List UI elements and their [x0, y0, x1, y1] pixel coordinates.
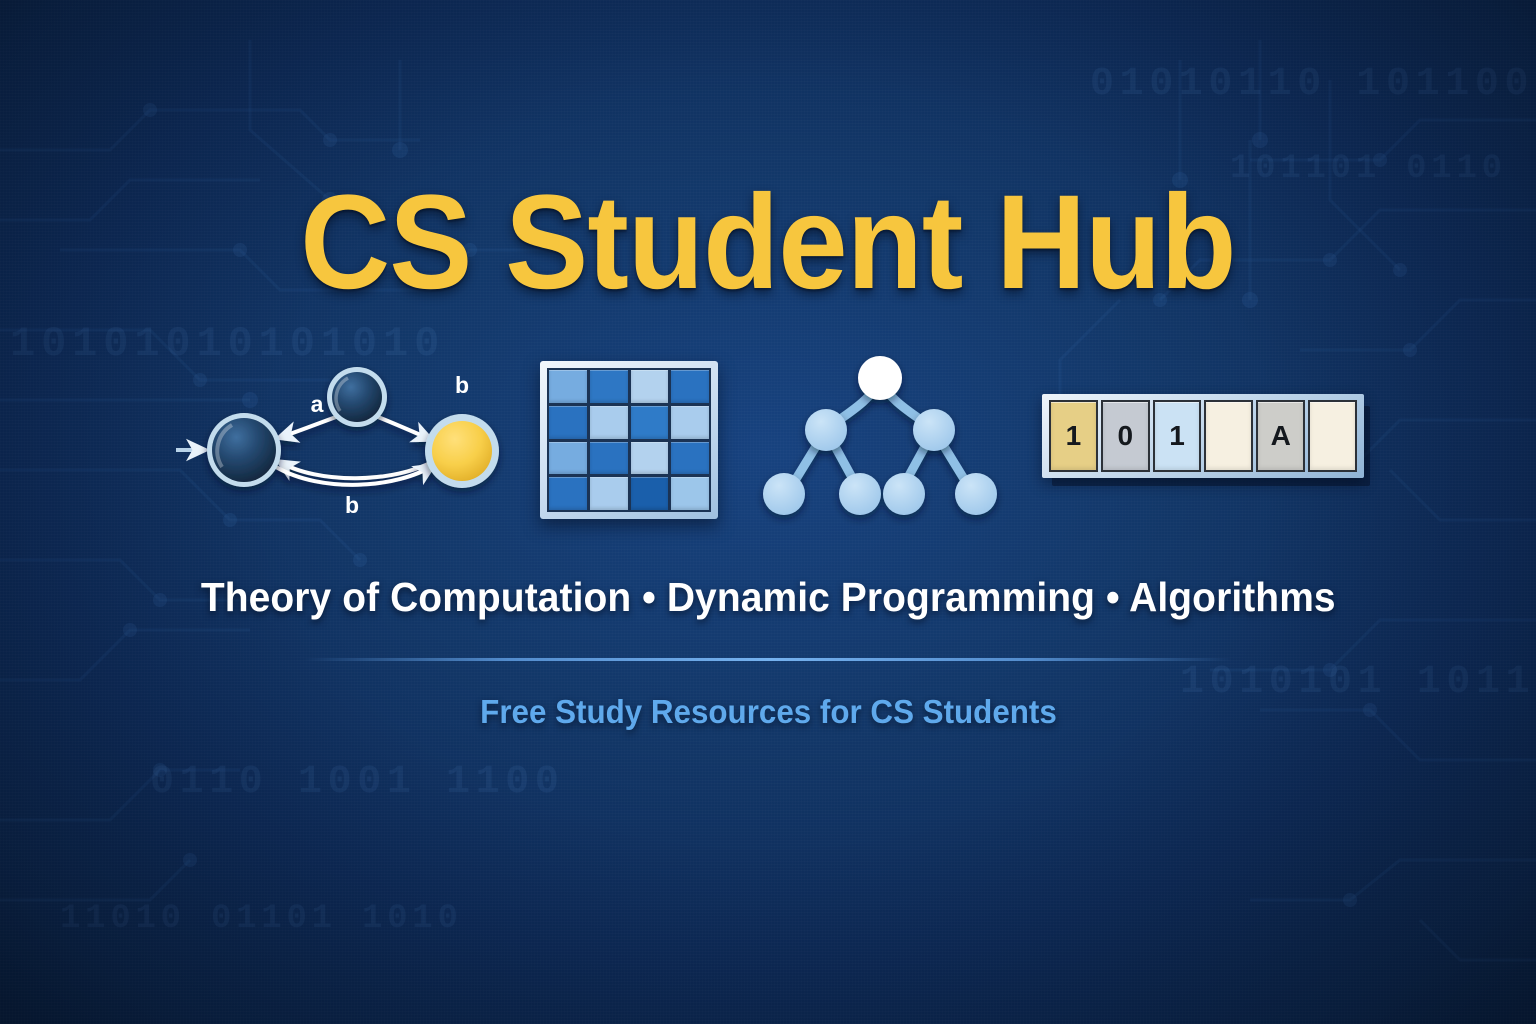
icon-row: a b b [148, 350, 1388, 530]
turing-machine-tape-icon: 101A [1042, 394, 1370, 486]
divider [304, 658, 1232, 661]
transition-b-forward [276, 465, 434, 485]
tree-node [955, 473, 997, 515]
transition-label-b: b [345, 492, 359, 518]
state-q1 [327, 367, 387, 427]
tape-cell-2: 1 [1153, 400, 1202, 472]
transition-label-a: a [311, 391, 324, 417]
transition-label-b2: b [455, 372, 469, 398]
tape-cell-0: 1 [1049, 400, 1098, 472]
matrix-cell-r1-c1 [590, 406, 628, 439]
matrix-cell-r2-c0 [549, 442, 587, 475]
tree-node [839, 473, 881, 515]
matrix-cell-r3-c2 [631, 477, 669, 510]
transition-edge [378, 417, 432, 440]
matrix-cell-r2-c3 [671, 442, 709, 475]
matrix-cell-r0-c1 [590, 370, 628, 403]
finite-state-automaton-icon: a b b [166, 355, 506, 525]
transition-a [278, 417, 336, 438]
tape-cell-5 [1308, 400, 1357, 472]
matrix-cell-r1-c2 [631, 406, 669, 439]
matrix-cell-r2-c2 [631, 442, 669, 475]
tree-node [883, 473, 925, 515]
matrix-cell-r0-c3 [671, 370, 709, 403]
matrix-cell-r1-c3 [671, 406, 709, 439]
state-q0 [207, 413, 281, 487]
tree-node [763, 473, 805, 515]
matrix-cell-r0-c2 [631, 370, 669, 403]
tape-cell-4: A [1256, 400, 1305, 472]
matrix-cell-r3-c1 [590, 477, 628, 510]
tree-node-root [858, 356, 902, 400]
tape-frame: 101A [1042, 394, 1364, 478]
tree-node [913, 409, 955, 451]
tape-cell-3 [1204, 400, 1253, 472]
matrix-cell-r3-c0 [549, 477, 587, 510]
matrix-cell-r1-c0 [549, 406, 587, 439]
tree-node [805, 409, 847, 451]
matrix-cell-r0-c0 [549, 370, 587, 403]
page-title: CS Student Hub [300, 176, 1235, 310]
dynamic-programming-table-icon [540, 361, 718, 519]
tagline: Free Study Resources for CS Students [480, 693, 1057, 731]
subtitle-topics: Theory of Computation • Dynamic Programm… [201, 574, 1336, 621]
matrix-cell-r2-c1 [590, 442, 628, 475]
state-q2-accept [425, 414, 499, 488]
matrix-cell-r3-c3 [671, 477, 709, 510]
tape-cell-1: 0 [1101, 400, 1150, 472]
binary-tree-icon [752, 354, 1008, 526]
matrix-grid [547, 368, 711, 512]
